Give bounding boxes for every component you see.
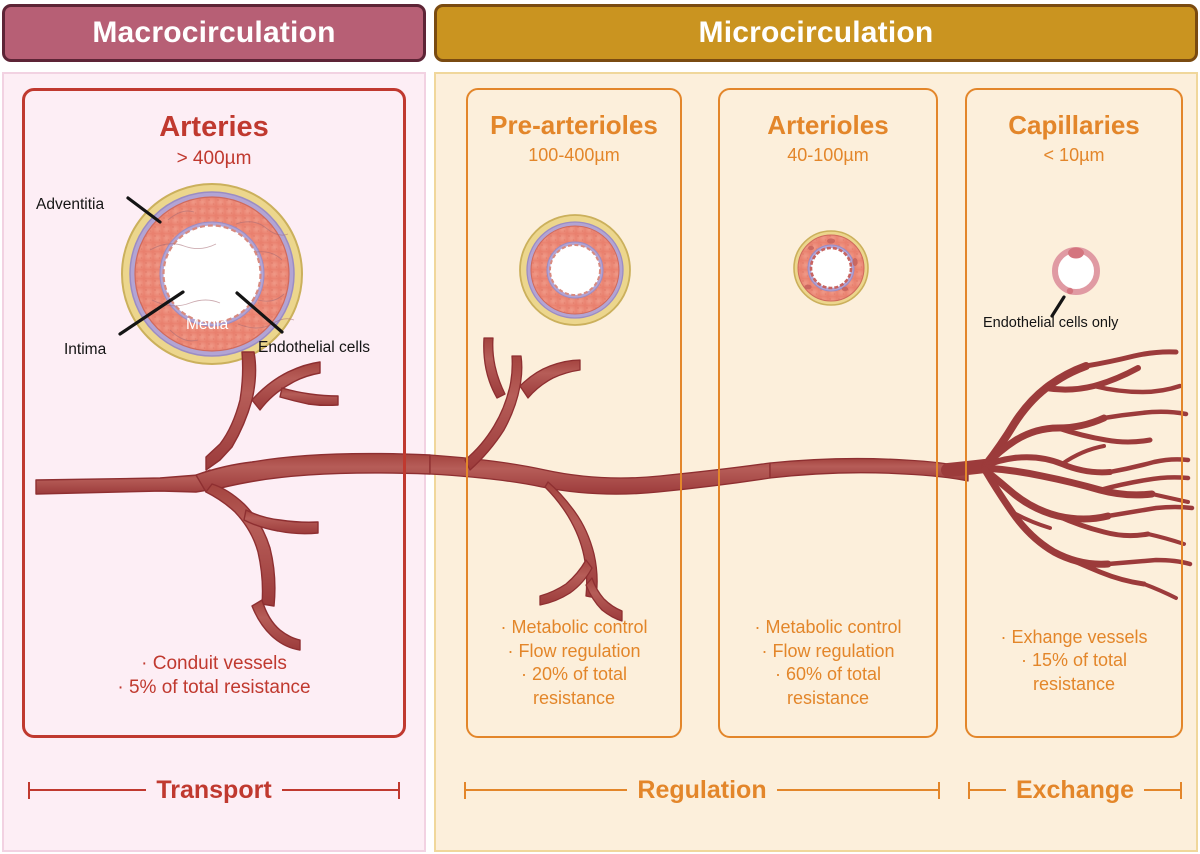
banner-microcirculation: Microcirculation xyxy=(434,4,1198,62)
card-capillaries: Capillaries < 10µm · Exhange vessels · 1… xyxy=(965,88,1183,738)
card-capillaries-bullets: · Exhange vessels · 15% of total resista… xyxy=(971,626,1177,696)
diagram-canvas: Macrocirculation Microcirculation xyxy=(0,0,1200,854)
card-prearterioles-title: Pre-arterioles xyxy=(468,112,680,138)
card-capillaries-title: Capillaries xyxy=(967,112,1181,138)
card-arterioles-title: Arterioles xyxy=(720,112,936,138)
card-arterioles-size: 40-100µm xyxy=(720,146,936,164)
card-arterioles-bullets: · Metabolic control · Flow regulation · … xyxy=(724,616,932,710)
label-media: Media xyxy=(186,317,228,333)
label-adventitia: Adventitia xyxy=(36,197,104,213)
footer-exchange-label: Exchange xyxy=(1006,778,1144,803)
card-arterioles-bullets-text: · Metabolic control · Flow regulation · … xyxy=(724,616,932,710)
label-intima: Intima xyxy=(64,342,106,358)
footer-transport: Transport xyxy=(28,775,400,805)
footer-exchange: Exchange xyxy=(968,775,1182,805)
card-prearterioles-size: 100-400µm xyxy=(468,146,680,164)
card-arteries-size: > 400µm xyxy=(25,149,403,168)
bracket-rule-left-icon xyxy=(30,789,146,791)
banner-macrocirculation: Macrocirculation xyxy=(2,4,426,62)
footer-regulation: Regulation xyxy=(464,775,940,805)
bracket-rule-right-icon xyxy=(777,789,938,791)
label-endothelial-cells: Endothelial cells xyxy=(258,340,370,356)
footer-regulation-label: Regulation xyxy=(627,778,776,803)
bracket-rule-right-icon xyxy=(1144,789,1180,791)
card-arteries-bullets: · Conduit vessels · 5% of total resistan… xyxy=(29,652,399,701)
card-arteries: Arteries > 400µm · Conduit vessels · 5% … xyxy=(22,88,406,738)
label-endothelial-cells-only: Endothelial cells only xyxy=(983,316,1118,331)
card-prearterioles-bullets: · Metabolic control · Flow regulation · … xyxy=(472,616,676,710)
card-arteries-title: Arteries xyxy=(25,113,403,142)
card-prearterioles: Pre-arterioles 100-400µm · Metabolic con… xyxy=(466,88,682,738)
bracket-cap-right-icon xyxy=(938,782,940,799)
bracket-cap-right-icon xyxy=(1180,782,1182,799)
card-capillaries-bullets-text: · Exhange vessels · 15% of total resista… xyxy=(971,626,1177,696)
card-arteries-bullets-text: · Conduit vessels · 5% of total resistan… xyxy=(29,652,399,701)
bracket-rule-right-icon xyxy=(282,789,398,791)
banner-microcirculation-label: Microcirculation xyxy=(699,16,934,50)
bracket-rule-left-icon xyxy=(970,789,1006,791)
card-arterioles: Arterioles 40-100µm · Metabolic control … xyxy=(718,88,938,738)
banner-macrocirculation-label: Macrocirculation xyxy=(92,16,335,50)
card-capillaries-size: < 10µm xyxy=(967,146,1181,164)
bracket-rule-left-icon xyxy=(466,789,627,791)
footer-transport-label: Transport xyxy=(146,778,281,803)
card-prearterioles-bullets-text: · Metabolic control · Flow regulation · … xyxy=(472,616,676,710)
bracket-cap-right-icon xyxy=(398,782,400,799)
